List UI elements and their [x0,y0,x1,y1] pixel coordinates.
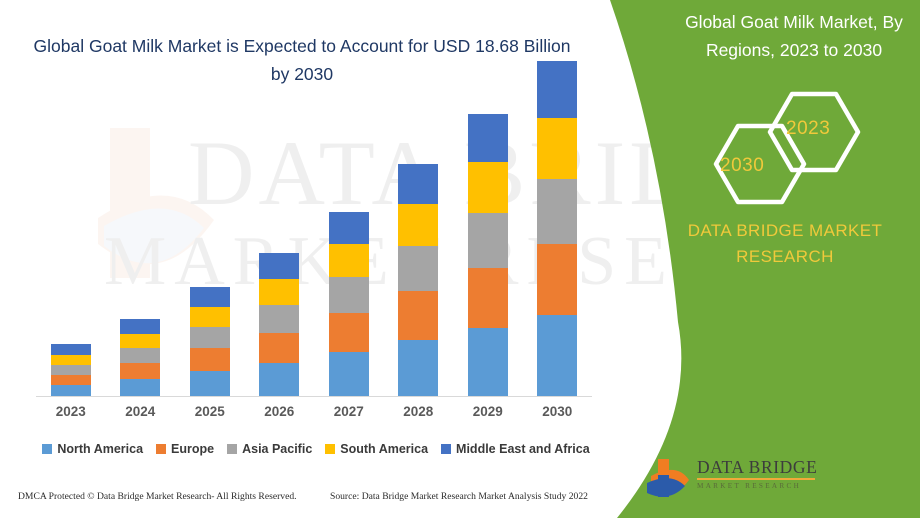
legend-label: Asia Pacific [242,442,312,456]
bar-segment [51,375,91,385]
panel-title: Global Goat Milk Market, By Regions, 202… [674,8,914,64]
bar-segment [120,319,160,334]
legend-swatch-icon [42,444,52,454]
legend-item[interactable]: South America [325,442,428,456]
x-axis-tick-2023: 2023 [36,404,106,419]
bar-segment [259,253,299,279]
bar-2024[interactable] [120,319,160,396]
logo-text-block: DATA BRIDGE MARKET RESEARCH [697,457,827,491]
bar-2030[interactable] [537,61,577,396]
legend-item[interactable]: Middle East and Africa [441,442,590,456]
bar-2026[interactable] [259,253,299,396]
bar-segment [537,244,577,315]
legend-item[interactable]: Asia Pacific [227,442,312,456]
x-axis-tick-2028: 2028 [383,404,453,419]
bar-segment [259,333,299,363]
bar-2027[interactable] [329,212,369,396]
hexagon-2030-label: 2030 [720,155,764,177]
footer-source: Source: Data Bridge Market Research Mark… [330,491,588,502]
bar-segment [120,379,160,396]
footer: DMCA Protected © Data Bridge Market Rese… [0,488,620,518]
x-axis-line [36,396,592,397]
bar-2029[interactable] [468,114,508,396]
bar-segment [190,287,230,307]
bar-segment [329,313,369,352]
bar-segment [259,279,299,305]
bar-segment [537,179,577,244]
chart-legend: North AmericaEuropeAsia PacificSouth Ame… [36,442,596,456]
chart-plot-area [36,100,592,396]
logo-title: DATA BRIDGE [697,457,827,477]
bar-segment [537,315,577,396]
bar-segment [398,340,438,396]
bar-segment [51,385,91,396]
x-axis-tick-2026: 2026 [244,404,314,419]
bar-segment [468,114,508,162]
bar-segment [190,327,230,348]
bar-segment [329,277,369,313]
bar-segment [51,355,91,365]
legend-item[interactable]: North America [42,442,143,456]
bar-segment [329,244,369,277]
legend-label: South America [340,442,428,456]
bar-segment [120,363,160,379]
logo-subtitle: MARKET RESEARCH [697,481,827,491]
bar-segment [329,212,369,244]
bar-segment [51,344,91,355]
panel-wordmark: DATA BRIDGE MARKET RESEARCH [660,218,910,270]
legend-swatch-icon [156,444,166,454]
infographic-root: DATA BRIDGE MARKET RESEARCH Global Goat … [0,0,920,518]
bar-segment [537,61,577,118]
legend-label: Europe [171,442,214,456]
bar-segment [120,334,160,348]
x-axis-tick-2029: 2029 [453,404,523,419]
logo-divider [697,478,815,480]
x-axis-tick-2024: 2024 [105,404,175,419]
bar-segment [190,307,230,327]
x-axis-tick-2025: 2025 [175,404,245,419]
bar-segment [398,291,438,340]
bar-segment [259,363,299,396]
bar-segment [51,365,91,375]
legend-label: North America [57,442,143,456]
bar-segment [190,371,230,396]
bar-segment [468,213,508,268]
bar-segment [398,246,438,291]
bar-segment [468,328,508,396]
x-axis-tick-2030: 2030 [522,404,592,419]
legend-swatch-icon [227,444,237,454]
right-green-panel: Global Goat Milk Market, By Regions, 202… [600,0,920,518]
legend-swatch-icon [441,444,451,454]
bar-segment [537,118,577,179]
data-bridge-logo: DATA BRIDGE MARKET RESEARCH [645,455,805,503]
hexagon-group [640,88,920,208]
bar-segment [329,352,369,396]
bar-2025[interactable] [190,287,230,396]
legend-item[interactable]: Europe [156,442,214,456]
stacked-bar-chart: 20232024202520262027202820292030 [0,0,620,440]
data-bridge-logomark-icon [645,457,691,501]
bar-segment [398,204,438,246]
bar-segment [398,164,438,204]
bar-2028[interactable] [398,164,438,396]
bar-2023[interactable] [51,344,91,396]
x-axis-tick-2027: 2027 [314,404,384,419]
bar-segment [468,162,508,213]
footer-copyright: DMCA Protected © Data Bridge Market Rese… [18,491,297,502]
bar-segment [120,348,160,363]
legend-label: Middle East and Africa [456,442,590,456]
bar-segment [190,348,230,371]
legend-swatch-icon [325,444,335,454]
hexagon-2023-label: 2023 [786,118,830,140]
bar-segment [259,305,299,333]
bar-segment [468,268,508,328]
